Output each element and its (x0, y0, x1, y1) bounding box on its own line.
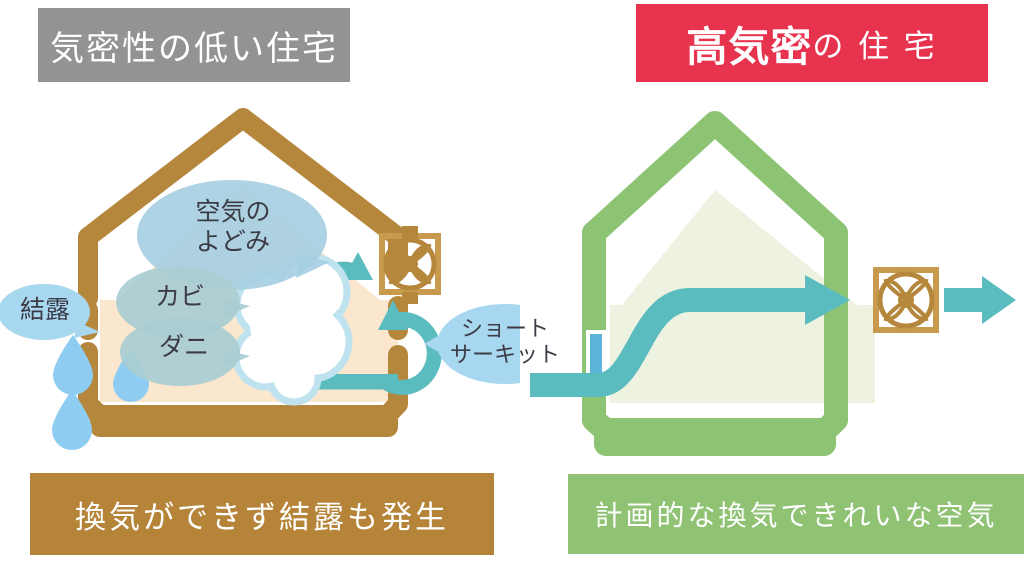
left-inner-house-fill-body (100, 300, 398, 402)
label-air-stagnation: 空気の よどみ (160, 198, 306, 257)
left-caption-label: 換気ができず結露も発生 (75, 492, 449, 537)
fan-icon (382, 226, 438, 304)
infographic-canvas: 気密性の低い住宅 (0, 0, 1024, 572)
speech-bubble-mite (120, 318, 250, 386)
left-floor-slab (90, 405, 398, 437)
left-house-outline (88, 118, 398, 425)
right-house-wall-left (594, 233, 820, 443)
speech-bubble-short-circuit (424, 304, 520, 384)
right-caption-label: 計画的な換気できれいな空気 (594, 494, 997, 534)
right-house-outline (594, 123, 836, 236)
left-leak-bar (318, 374, 398, 388)
left-header-badge: 気密性の低い住宅 (38, 8, 350, 82)
label-mold: カビ (130, 283, 230, 313)
speech-bubble-condensation (0, 284, 100, 340)
arrow-head-lower (378, 300, 408, 330)
left-header-label: 気密性の低い住宅 (50, 21, 338, 70)
right-house-wall-right (812, 233, 836, 443)
left-caption-band: 換気ができず結露も発生 (30, 473, 494, 555)
speech-bubble-mold (116, 266, 250, 338)
arrow-head-upper (343, 252, 373, 280)
right-header-label-strong: 高気密 (686, 13, 812, 73)
air-intake-icon (586, 330, 606, 378)
right-floor-slab (594, 418, 836, 456)
water-drop-icon (52, 335, 149, 450)
panel-low-airtightness-house: 気密性の低い住宅 (0, 0, 520, 572)
right-inner-house-fill (610, 190, 875, 400)
right-header-badge: 高気密 の 住 宅 (636, 4, 988, 82)
exhaust-arrow-icon (944, 276, 1016, 324)
left-inner-house-fill (100, 187, 398, 400)
right-inner-house-fill-body (610, 305, 875, 403)
airflow-arrow-icon (530, 300, 812, 385)
right-caption-band: 計画的な換気できれいな空気 (568, 474, 1024, 554)
circulating-air-arrow-icon (315, 269, 434, 387)
speech-bubble-air-stagnation (137, 180, 330, 290)
label-condensation: 結露 (2, 296, 88, 326)
panel-high-airtightness-house: 高気密 の 住 宅 (520, 0, 1024, 572)
moisture-cloud-icon (236, 257, 349, 402)
fan-icon (876, 270, 936, 330)
airflow-arrow-head (805, 275, 850, 325)
label-mite: ダニ (138, 333, 230, 363)
right-header-label-normal: の 住 宅 (812, 21, 937, 66)
